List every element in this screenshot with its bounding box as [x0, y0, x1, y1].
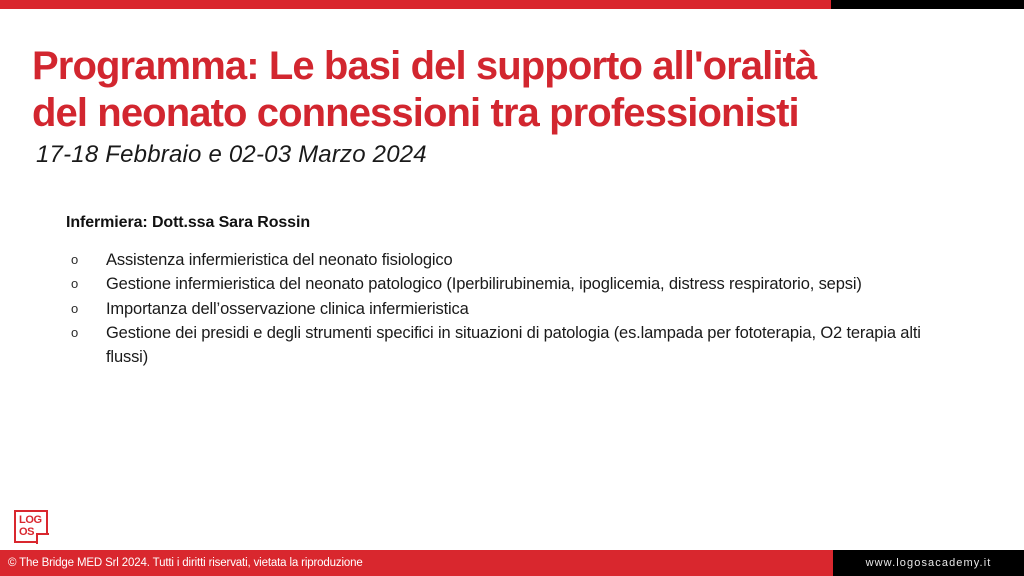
list-item-text: Gestione infermieristica del neonato pat…: [106, 275, 862, 293]
top-accent-bar-red-segment: [0, 0, 831, 9]
slide-title: Programma: Le basi del supporto all'oral…: [32, 43, 1000, 137]
bullet-circle-icon: o: [71, 322, 78, 345]
list-item: o Assistenza infermieristica del neonato…: [66, 249, 966, 272]
footer-bar: © The Bridge MED Srl 2024. Tutti i dirit…: [0, 550, 1024, 576]
list-item: o Gestione dei presidi e degli strumenti…: [66, 322, 966, 369]
list-item-text: Gestione dei presidi e degli strumenti s…: [106, 324, 921, 365]
topic-list: o Assistenza infermieristica del neonato…: [66, 249, 966, 369]
bullet-circle-icon: o: [71, 273, 78, 296]
logo-wordmark-line-2: OS: [19, 527, 34, 539]
speaker-heading: Infermiera: Dott.ssa Sara Rossin: [66, 214, 966, 232]
top-accent-bar-black-segment: [831, 0, 1024, 9]
footer-url-text: www.logosacademy.it: [866, 557, 992, 569]
top-accent-bar: [0, 0, 1024, 9]
footer-url-segment: www.logosacademy.it: [833, 550, 1024, 576]
list-item-text: Importanza dell’osservazione clinica inf…: [106, 300, 469, 318]
slide-title-line-2: del neonato connessioni tra professionis…: [32, 90, 1000, 137]
bullet-circle-icon: o: [71, 249, 78, 272]
logos-academy-logo: LOG OS: [14, 510, 48, 543]
list-item-text: Assistenza infermieristica del neonato f…: [106, 251, 453, 269]
logo-wordmark-line-1: LOG: [19, 515, 42, 527]
footer-copyright-text: © The Bridge MED Srl 2024. Tutti i dirit…: [8, 557, 363, 569]
list-item: o Importanza dell’osservazione clinica i…: [66, 298, 966, 321]
slide-dates: 17-18 Febbraio e 02-03 Marzo 2024: [36, 141, 427, 169]
bullet-circle-icon: o: [71, 298, 78, 321]
slide-content: Infermiera: Dott.ssa Sara Rossin o Assis…: [66, 214, 966, 370]
logo-corner-notch: [36, 533, 49, 544]
footer-copyright-segment: © The Bridge MED Srl 2024. Tutti i dirit…: [0, 550, 833, 576]
list-item: o Gestione infermieristica del neonato p…: [66, 273, 966, 296]
slide-title-line-1: Programma: Le basi del supporto all'oral…: [32, 43, 1000, 90]
